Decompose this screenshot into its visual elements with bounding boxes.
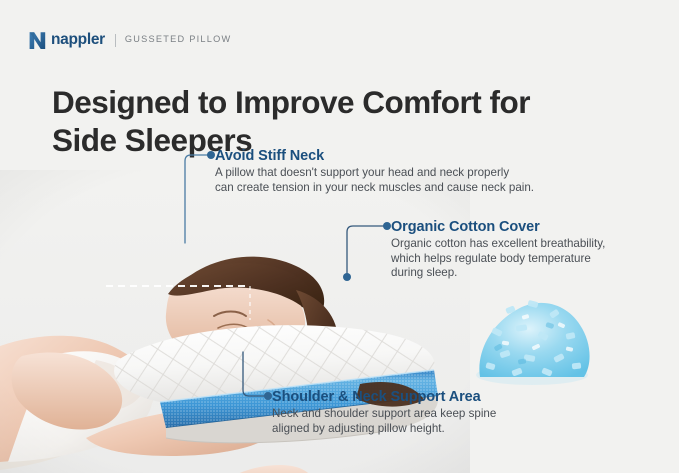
callout-1-body-line-1: A pillow that doesn't support your head … xyxy=(215,166,615,181)
callout-1-body-line-2: can create tension in your neck muscles … xyxy=(215,181,615,196)
callout-2-title: Organic Cotton Cover xyxy=(391,218,671,236)
callout-3-body-line-1: Neck and shoulder support area keep spin… xyxy=(272,407,602,422)
callout-organic-cotton-cover: Organic Cotton Cover Organic cotton has … xyxy=(391,218,671,281)
callout-3-body-line-2: aligned by adjusting pillow height. xyxy=(272,422,602,437)
callout-2-anchor-dot xyxy=(343,273,351,281)
callout-3-marker-dot xyxy=(264,392,272,400)
callout-2-body-line-1: Organic cotton has excellent breathabili… xyxy=(391,237,671,252)
callout-2-marker-dot xyxy=(383,222,391,230)
callout-3-title: Shoulder & Neck Support Area xyxy=(272,388,602,406)
callout-3-body: Neck and shoulder support area keep spin… xyxy=(272,407,602,436)
callout-2-body-line-3: during sleep. xyxy=(391,266,671,281)
callout-avoid-stiff-neck: Avoid Stiff Neck A pillow that doesn't s… xyxy=(215,147,615,195)
callout-1-body: A pillow that doesn't support your head … xyxy=(215,166,615,195)
callout-1-marker-dot xyxy=(207,151,215,159)
infographic-canvas: nappler GUSSETED PILLOW Designed to Impr… xyxy=(0,0,679,473)
callout-2-body: Organic cotton has excellent breathabili… xyxy=(391,237,671,281)
callout-2-body-line-2: which helps regulate body temperature xyxy=(391,252,671,267)
callout-shoulder-neck-support-area: Shoulder & Neck Support Area Neck and sh… xyxy=(272,388,602,436)
callout-1-title: Avoid Stiff Neck xyxy=(215,147,615,165)
